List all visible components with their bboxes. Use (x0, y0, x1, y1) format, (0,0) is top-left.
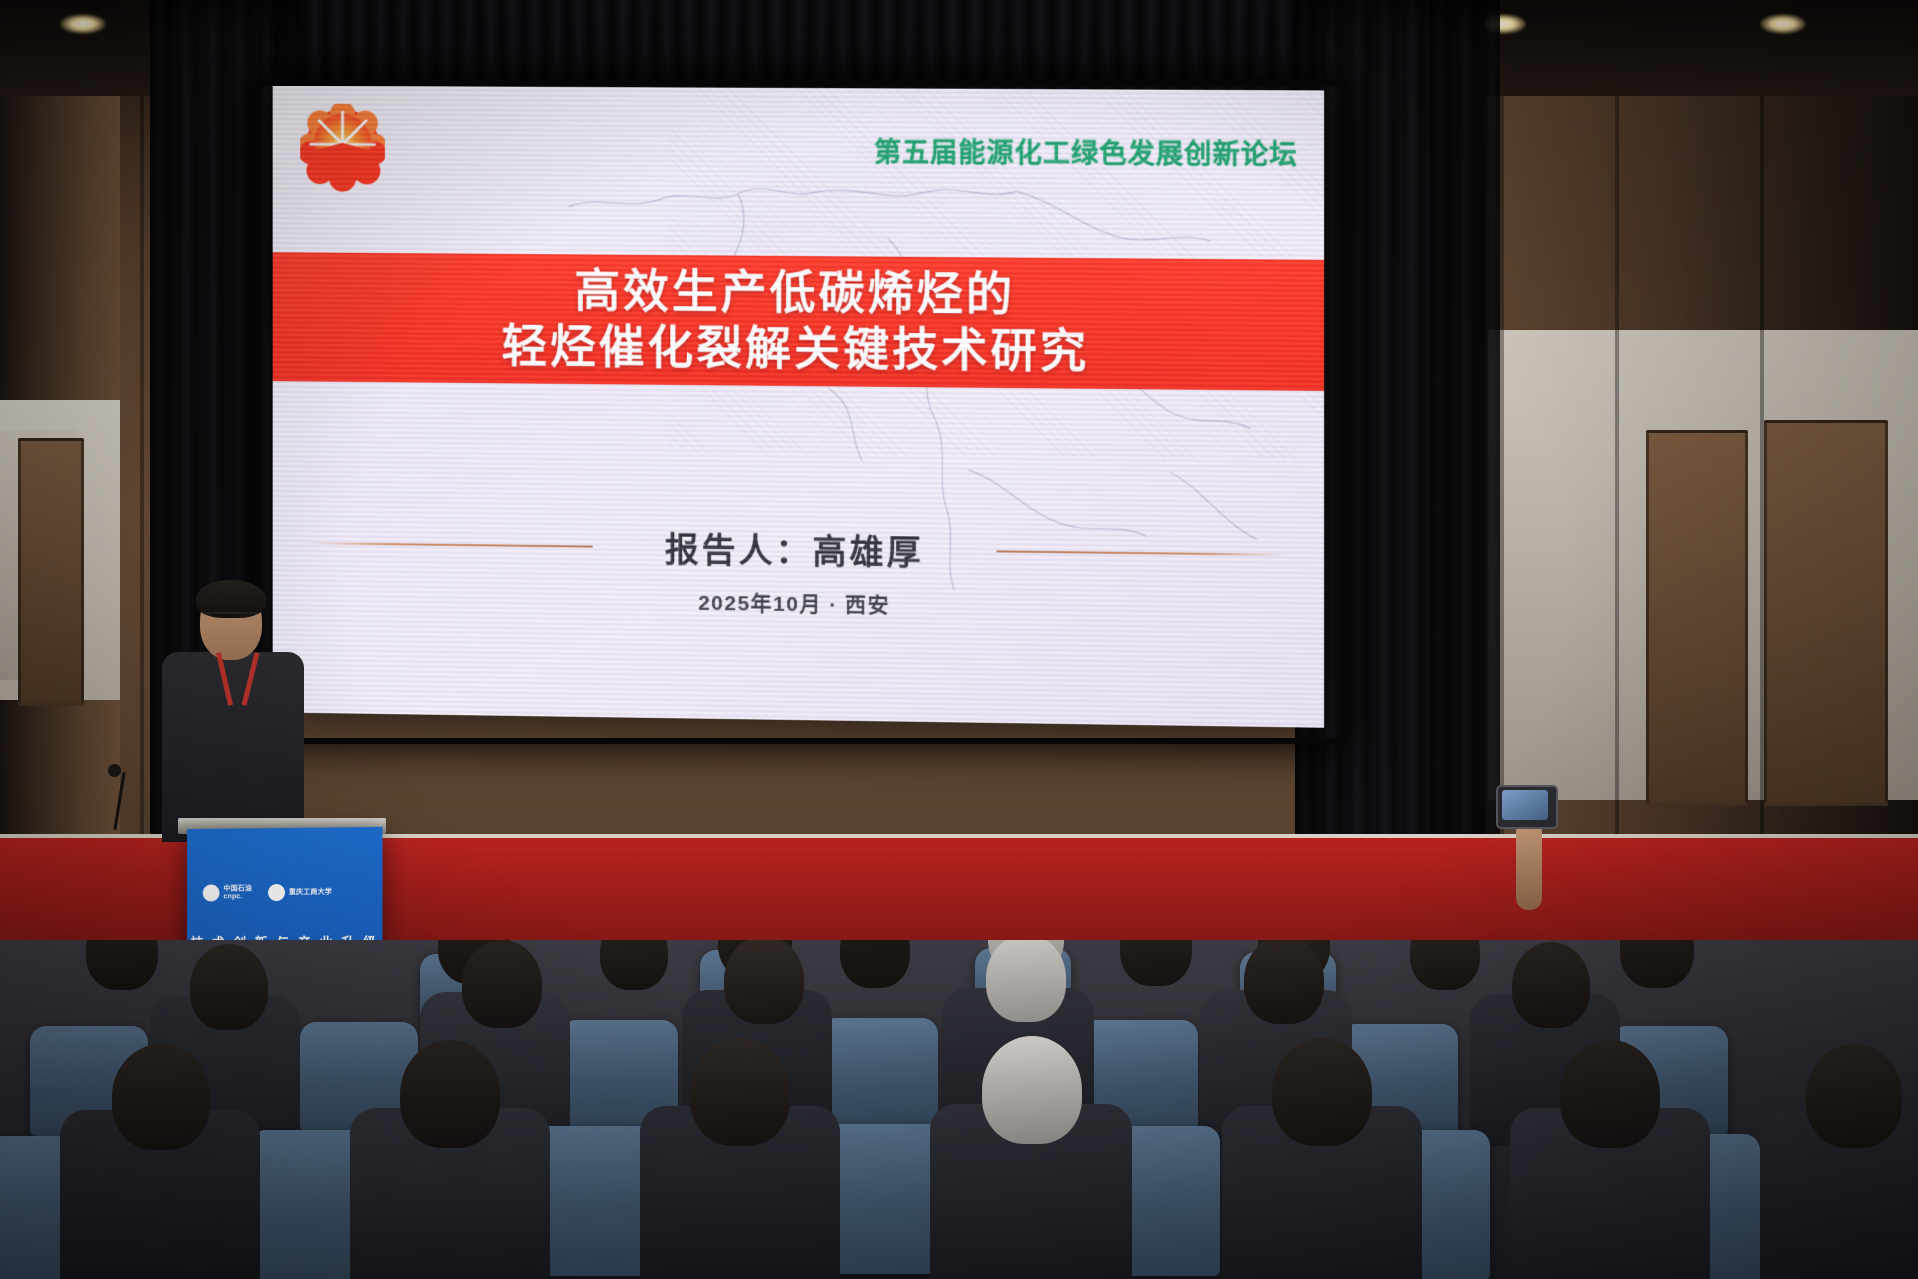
audience-head (462, 940, 542, 1028)
slide-title: 高效生产低碳烯烃的 轻烃催化裂解关键技术研究 (273, 260, 1324, 381)
audience-head (1806, 1044, 1902, 1148)
audience-head (690, 1038, 790, 1146)
slide-header-green: 第五届能源化工绿色发展创新论坛 (874, 130, 1298, 172)
audience-head (1410, 940, 1480, 990)
audience-head (86, 940, 158, 990)
audience-head (840, 940, 910, 988)
curtain-right-edge (1430, 0, 1500, 960)
audience-head (1272, 1038, 1372, 1146)
conference-photo: 第五届能源化工绿色发展创新论坛 高效生产低碳烯烃的 轻烃催化裂解关键技术研究 报… (0, 0, 1918, 1279)
audience-head (1120, 940, 1192, 986)
podium-logo-cnpc: 中国石油 cnpc. (203, 884, 252, 901)
world-map-graphic (273, 86, 1324, 728)
speaker-glasses (204, 612, 258, 627)
presentation-screen: 第五届能源化工绿色发展创新论坛 高效生产低碳烯烃的 轻烃催化裂解关键技术研究 报… (273, 86, 1324, 728)
slide-title-line-1: 高效生产低碳烯烃的 (273, 260, 1324, 324)
audience-area (0, 940, 1918, 1279)
speaker-torso (162, 652, 304, 842)
podium-logo-row: 中国石油 cnpc. 重庆工商大学 (203, 883, 367, 901)
audience-head (1560, 1040, 1660, 1148)
door-left (18, 438, 84, 706)
curtain-valance (150, 0, 1470, 96)
ceiling-light (60, 14, 106, 34)
podium-logo-cnpc-cn: 中国石油 (223, 885, 252, 893)
slide-title-line-2: 轻烃催化裂解关键技术研究 (273, 316, 1324, 381)
attendee-arm (1516, 820, 1542, 910)
audience-head (400, 1040, 500, 1148)
door-right (1764, 420, 1888, 806)
podium-logo-cnpc-en: cnpc. (223, 893, 252, 901)
microphone-head (108, 764, 121, 777)
attendee-tablet-screen (1502, 790, 1548, 820)
audience-head (1512, 942, 1590, 1028)
audience-head (112, 1044, 210, 1150)
cnpc-mark-icon (203, 884, 220, 901)
audience-head (982, 1036, 1082, 1144)
ceiling-light (1760, 14, 1806, 34)
podium-logo-university-cn: 重庆工商大学 (289, 888, 332, 896)
audience-head (724, 940, 804, 1024)
cnpc-petrochina-logo (300, 104, 385, 196)
podium-logo-university: 重庆工商大学 (268, 884, 332, 901)
audience-head (1244, 940, 1324, 1024)
door-right-2 (1646, 430, 1748, 806)
audience-chair (820, 1018, 938, 1128)
university-mark-icon (268, 884, 285, 901)
audience-head (190, 944, 268, 1030)
audience-head (986, 940, 1066, 1022)
audience-head (1620, 940, 1694, 988)
audience-head (600, 940, 668, 990)
